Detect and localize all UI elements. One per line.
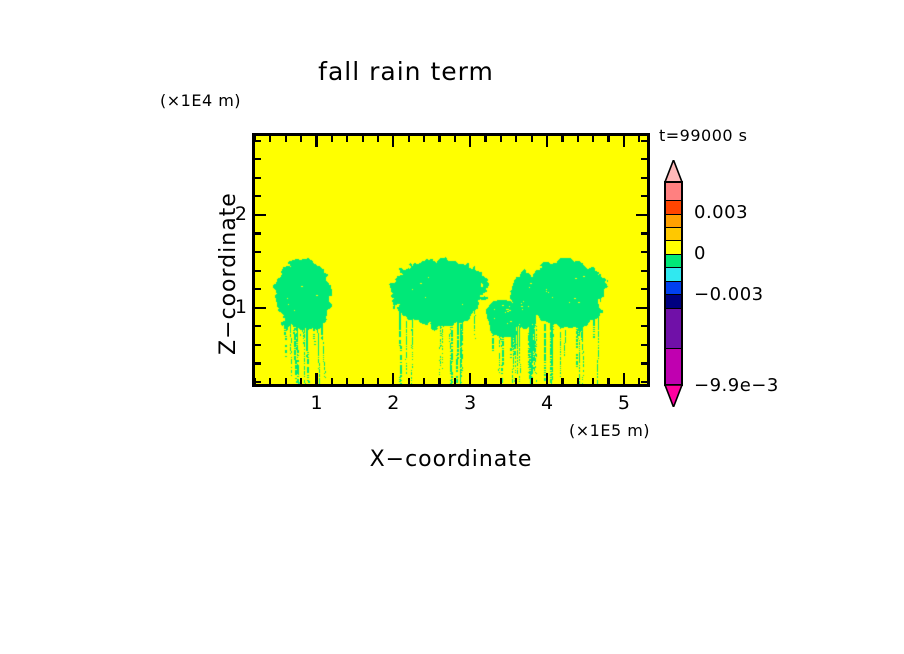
colorbar-tick-label: −9.9e−3 (694, 375, 779, 396)
x-tick-label: 2 (378, 392, 408, 414)
timestamp-label: t=99000 s (659, 126, 748, 145)
axis-tick (362, 136, 364, 142)
axis-tick (500, 378, 502, 384)
y-axis-unit-label: (×1E4 m) (160, 91, 241, 110)
axis-tick (636, 307, 647, 309)
axis-tick (561, 378, 563, 384)
axis-tick (592, 136, 594, 142)
axis-tick (515, 136, 517, 142)
axis-tick (438, 378, 440, 384)
colorbar-segment-spring-green (666, 255, 681, 268)
axis-tick (636, 214, 647, 216)
axis-tick (546, 373, 548, 384)
axis-tick (469, 136, 471, 147)
colorbar-segment-yellow (666, 241, 681, 254)
axis-tick (623, 136, 625, 147)
axis-tick (469, 373, 471, 384)
axis-tick (641, 325, 647, 327)
axis-tick (346, 136, 348, 142)
axis-tick (577, 136, 579, 142)
axis-tick (255, 307, 266, 309)
axis-tick (484, 136, 486, 142)
plot-area (252, 133, 650, 387)
colorbar-bottom-arrow-icon (663, 385, 684, 407)
colorbar-segment-cyan (666, 268, 681, 281)
axis-tick (641, 177, 647, 179)
axis-tick (408, 136, 410, 142)
page-title: fall rain term (0, 57, 904, 86)
colorbar-segment-amber (666, 228, 681, 241)
x-tick-label: 3 (455, 392, 485, 414)
axis-tick (438, 136, 440, 142)
axis-tick (454, 378, 456, 384)
axis-tick (255, 177, 261, 179)
axis-tick (641, 270, 647, 272)
axis-tick (255, 325, 261, 327)
axis-tick (641, 232, 647, 234)
axis-tick (300, 136, 302, 142)
colorbar-segment-blue (666, 282, 681, 295)
axis-tick (531, 136, 533, 142)
axis-tick (315, 136, 317, 147)
axis-tick (269, 378, 271, 384)
axis-tick (641, 251, 647, 253)
axis-tick (362, 378, 364, 384)
axis-tick (392, 373, 394, 384)
colorbar-gradient (664, 181, 683, 386)
axis-tick (346, 378, 348, 384)
axis-tick (255, 232, 261, 234)
axis-tick (500, 136, 502, 142)
axis-tick (300, 378, 302, 384)
axis-tick (255, 270, 261, 272)
colorbar-segment-salmon (666, 183, 681, 201)
x-tick-label: 5 (609, 392, 639, 414)
axis-tick (531, 378, 533, 384)
axis-tick (255, 158, 261, 160)
axis-tick (623, 373, 625, 384)
colorbar-segment-magenta (666, 349, 681, 384)
axis-tick (408, 378, 410, 384)
axis-tick (641, 344, 647, 346)
axis-tick (641, 362, 647, 364)
axis-tick (577, 378, 579, 384)
axis-tick (484, 378, 486, 384)
axis-tick (515, 378, 517, 384)
axis-tick (255, 344, 261, 346)
axis-tick (641, 158, 647, 160)
axis-tick (255, 381, 261, 383)
axis-tick (423, 136, 425, 142)
axis-tick (607, 136, 609, 142)
axis-tick (592, 378, 594, 384)
axis-tick (255, 214, 266, 216)
axis-tick (331, 136, 333, 142)
axis-tick (269, 136, 271, 142)
colorbar-segment-orange (666, 215, 681, 228)
colorbar-tick-label: 0 (694, 243, 706, 264)
x-tick-label: 4 (532, 392, 562, 414)
axis-tick (331, 378, 333, 384)
colorbar-segment-orange-red (666, 201, 681, 214)
x-tick-label: 1 (301, 392, 331, 414)
y-tick-label: 1 (225, 296, 247, 318)
axis-tick (641, 288, 647, 290)
x-axis-unit-label: (×1E5 m) (569, 421, 650, 440)
axis-tick (641, 381, 647, 383)
axis-tick (561, 136, 563, 142)
axis-tick (315, 373, 317, 384)
plot-title-text: fall rain term (318, 57, 494, 86)
axis-tick (255, 195, 261, 197)
colorbar-tick-label: −0.003 (694, 284, 764, 305)
axis-tick (255, 251, 261, 253)
axis-tick (392, 136, 394, 147)
contour-field (255, 136, 647, 384)
axis-tick (454, 136, 456, 142)
colorbar-segment-purple (666, 309, 681, 349)
axis-tick (546, 136, 548, 147)
axis-tick (641, 195, 647, 197)
colorbar-tick-label: 0.003 (694, 202, 748, 223)
axis-tick (255, 140, 261, 142)
colorbar-top-arrow-icon (663, 160, 684, 182)
axis-tick (285, 378, 287, 384)
axis-tick (423, 378, 425, 384)
axis-tick (607, 378, 609, 384)
x-axis-title: X−coordinate (252, 447, 650, 472)
colorbar-segment-navy (666, 295, 681, 308)
axis-tick (285, 136, 287, 142)
axis-tick (641, 140, 647, 142)
axis-tick (255, 362, 261, 364)
axis-tick (377, 136, 379, 142)
axis-tick (255, 288, 261, 290)
y-tick-label: 2 (225, 203, 247, 225)
axis-tick (377, 378, 379, 384)
